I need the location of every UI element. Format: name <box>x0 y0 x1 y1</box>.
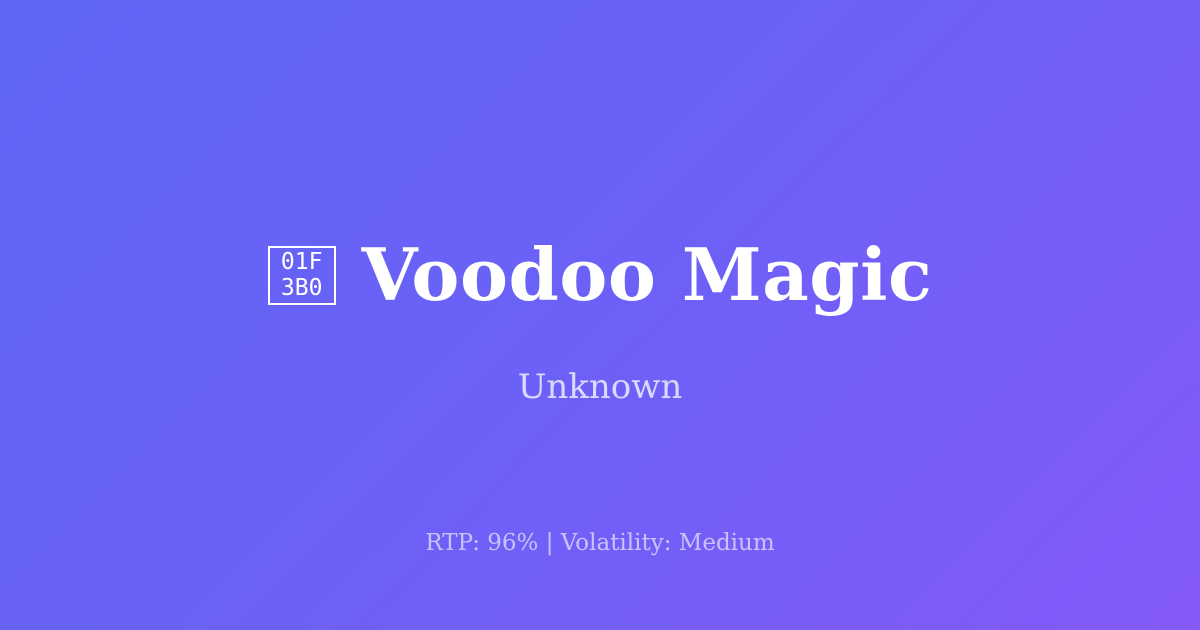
provider-label: Unknown <box>0 366 1200 408</box>
title-row: 01F 3B0 Voodoo Magic <box>0 232 1200 318</box>
og-share-card: 01F 3B0 Voodoo Magic Unknown RTP: 96% | … <box>0 0 1200 630</box>
page-title: Voodoo Magic <box>362 232 933 318</box>
tofu-codepoint-top: 01F <box>281 249 323 275</box>
game-meta-line: RTP: 96% | Volatility: Medium <box>0 529 1200 557</box>
slot-machine-emoji-icon: 01F 3B0 <box>268 246 336 305</box>
tofu-codepoint-bottom: 3B0 <box>281 275 323 301</box>
